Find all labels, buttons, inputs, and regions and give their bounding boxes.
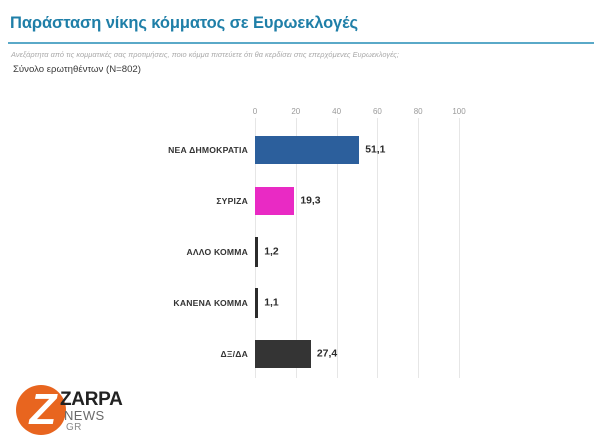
- chart-category-row: ΝΕΑ ΔΗΜΟΚΡΑΤΙΑ51,1: [0, 124, 600, 176]
- category-label: ΑΛΛΟ ΚΟΜΜΑ: [186, 247, 248, 257]
- zarpa-news-logo: Z ZARPA NEWS GR: [10, 382, 160, 440]
- category-label: ΣΥΡΙΖΑ: [216, 196, 248, 206]
- bar-value-label: 1,1: [264, 298, 278, 309]
- bar-4[interactable]: [255, 288, 258, 318]
- logo-letter-z: Z: [22, 386, 64, 434]
- chart-category-row: ΚΑΝΕΝΑ ΚΟΜΜΑ1,1: [0, 277, 600, 329]
- chart-category-row: ΔΞ/ΔΑ27,4: [0, 328, 600, 380]
- bar-1[interactable]: [255, 136, 359, 164]
- chart-category-row: ΑΛΛΟ ΚΟΜΜΑ1,2: [0, 226, 600, 278]
- x-axis-tick-label: 20: [291, 107, 300, 116]
- x-axis-tick-label: 0: [253, 107, 257, 116]
- x-axis-tick-label: 60: [373, 107, 382, 116]
- bar-2[interactable]: [255, 187, 294, 215]
- x-axis-tick-label: 80: [414, 107, 423, 116]
- bar-value-label: 27,4: [317, 349, 337, 360]
- logo-subtitle-gr: GR: [66, 422, 82, 433]
- bar-chart-plot-area: 020406080100ΝΕΑ ΔΗΜΟΚΡΑΤΙΑ51,1ΣΥΡΙΖΑ19,3…: [0, 0, 600, 400]
- bar-value-label: 51,1: [365, 145, 385, 156]
- chart-category-row: ΣΥΡΙΖΑ19,3: [0, 175, 600, 227]
- category-label: ΚΑΝΕΝΑ ΚΟΜΜΑ: [173, 298, 248, 308]
- logo-subtitle-news: NEWS: [64, 408, 105, 423]
- x-axis-tick-label: 40: [332, 107, 341, 116]
- bar-5[interactable]: [255, 340, 311, 368]
- category-label: ΔΞ/ΔΑ: [221, 349, 248, 359]
- bar-3[interactable]: [255, 237, 258, 267]
- bar-value-label: 1,2: [264, 247, 278, 258]
- x-axis-tick-label: 100: [452, 107, 465, 116]
- category-label: ΝΕΑ ΔΗΜΟΚΡΑΤΙΑ: [168, 145, 248, 155]
- bar-value-label: 19,3: [300, 196, 320, 207]
